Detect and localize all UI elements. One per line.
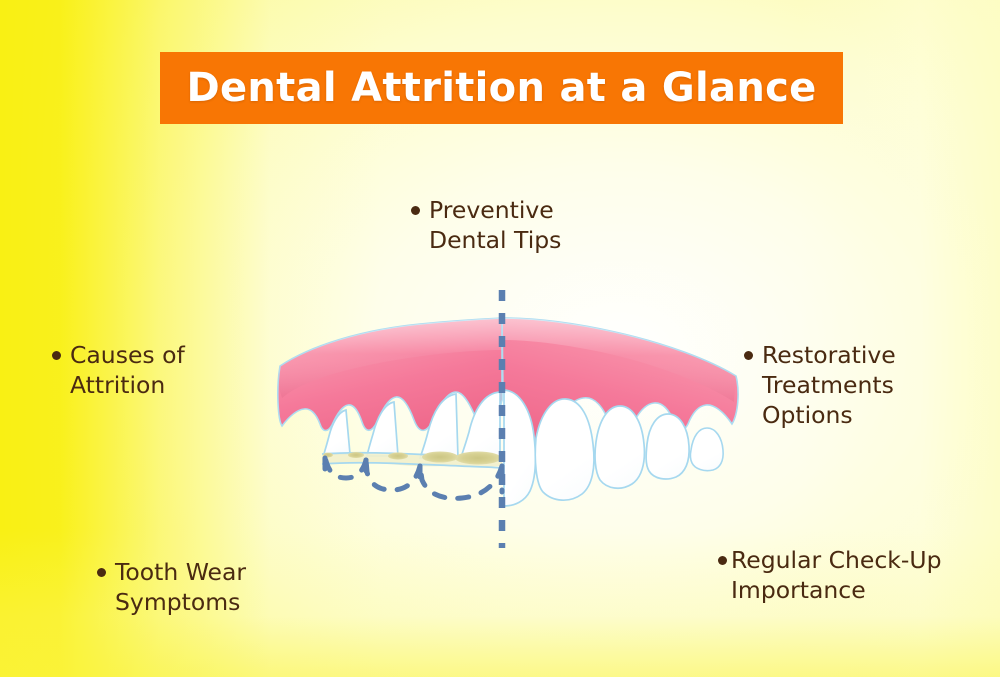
bullet-dot-icon	[744, 351, 753, 360]
bullet-dot-icon	[52, 351, 61, 360]
page-title: Dental Attrition at a Glance	[186, 65, 816, 111]
callout-label: Tooth Wear Symptoms	[115, 557, 246, 617]
callout-restorative-treatments-options[interactable]: Restorative Treatments Options	[744, 340, 896, 430]
bullet-dot-icon	[411, 206, 420, 215]
bullet-dot-icon	[97, 568, 106, 577]
dentin-exposure-1	[455, 452, 501, 465]
title-banner: Dental Attrition at a Glance	[160, 52, 843, 124]
dentin-exposure-3	[388, 452, 408, 459]
callout-preventive-dental-tips[interactable]: Preventive Dental Tips	[411, 195, 561, 255]
dentin-exposure-2	[422, 452, 458, 463]
callout-label: Causes of Attrition	[70, 340, 185, 400]
callout-label: Preventive Dental Tips	[429, 195, 561, 255]
callout-label: Restorative Treatments Options	[762, 340, 896, 430]
teeth-illustration	[270, 280, 750, 560]
dentin-exposure-4	[348, 452, 364, 458]
callout-tooth-wear-symptoms[interactable]: Tooth Wear Symptoms	[97, 557, 246, 617]
callout-causes-of-attrition[interactable]: Causes of Attrition	[52, 340, 185, 400]
callout-regular-checkup-importance[interactable]: Regular Check-Up Importance	[718, 545, 942, 605]
callout-label: Regular Check-Up Importance	[731, 545, 942, 605]
bullet-dot-icon	[718, 556, 727, 565]
